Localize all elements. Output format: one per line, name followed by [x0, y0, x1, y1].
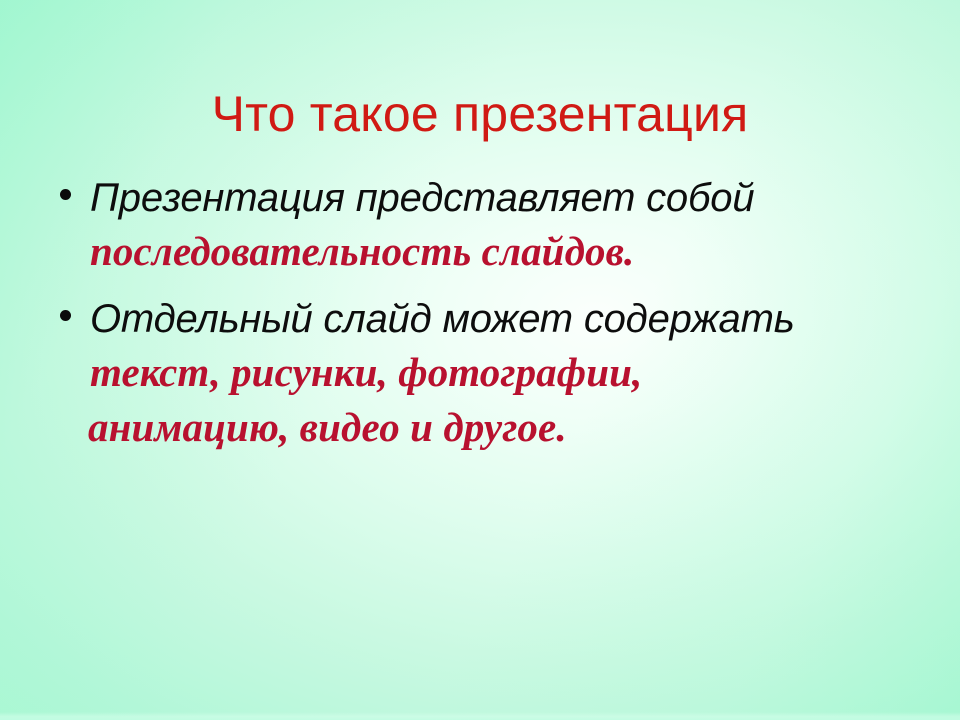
- slide-body: Презентация представляет собой последова…: [52, 172, 932, 459]
- bullet-item: Отдельный слайд может содержать текст, р…: [52, 293, 932, 455]
- bullet-line: Презентация представляет собой: [90, 172, 932, 224]
- slide-content: Что такое презентация Презентация предст…: [0, 0, 960, 720]
- bullet-line-accent: последовательность слайдов.: [90, 224, 932, 279]
- bullet-line-accent: анимацию, видео и другое.: [88, 400, 932, 455]
- bullet-dot-icon: [60, 310, 71, 321]
- slide-title: Что такое презентация: [0, 88, 960, 141]
- bullet-dot-icon: [60, 189, 71, 200]
- presentation-slide: Что такое презентация Презентация предст…: [0, 0, 960, 720]
- bullet-item: Презентация представляет собой последова…: [52, 172, 932, 279]
- bullet-line-accent: текст, рисунки, фотографии,: [90, 345, 932, 400]
- bullet-line: Отдельный слайд может содержать: [90, 293, 932, 345]
